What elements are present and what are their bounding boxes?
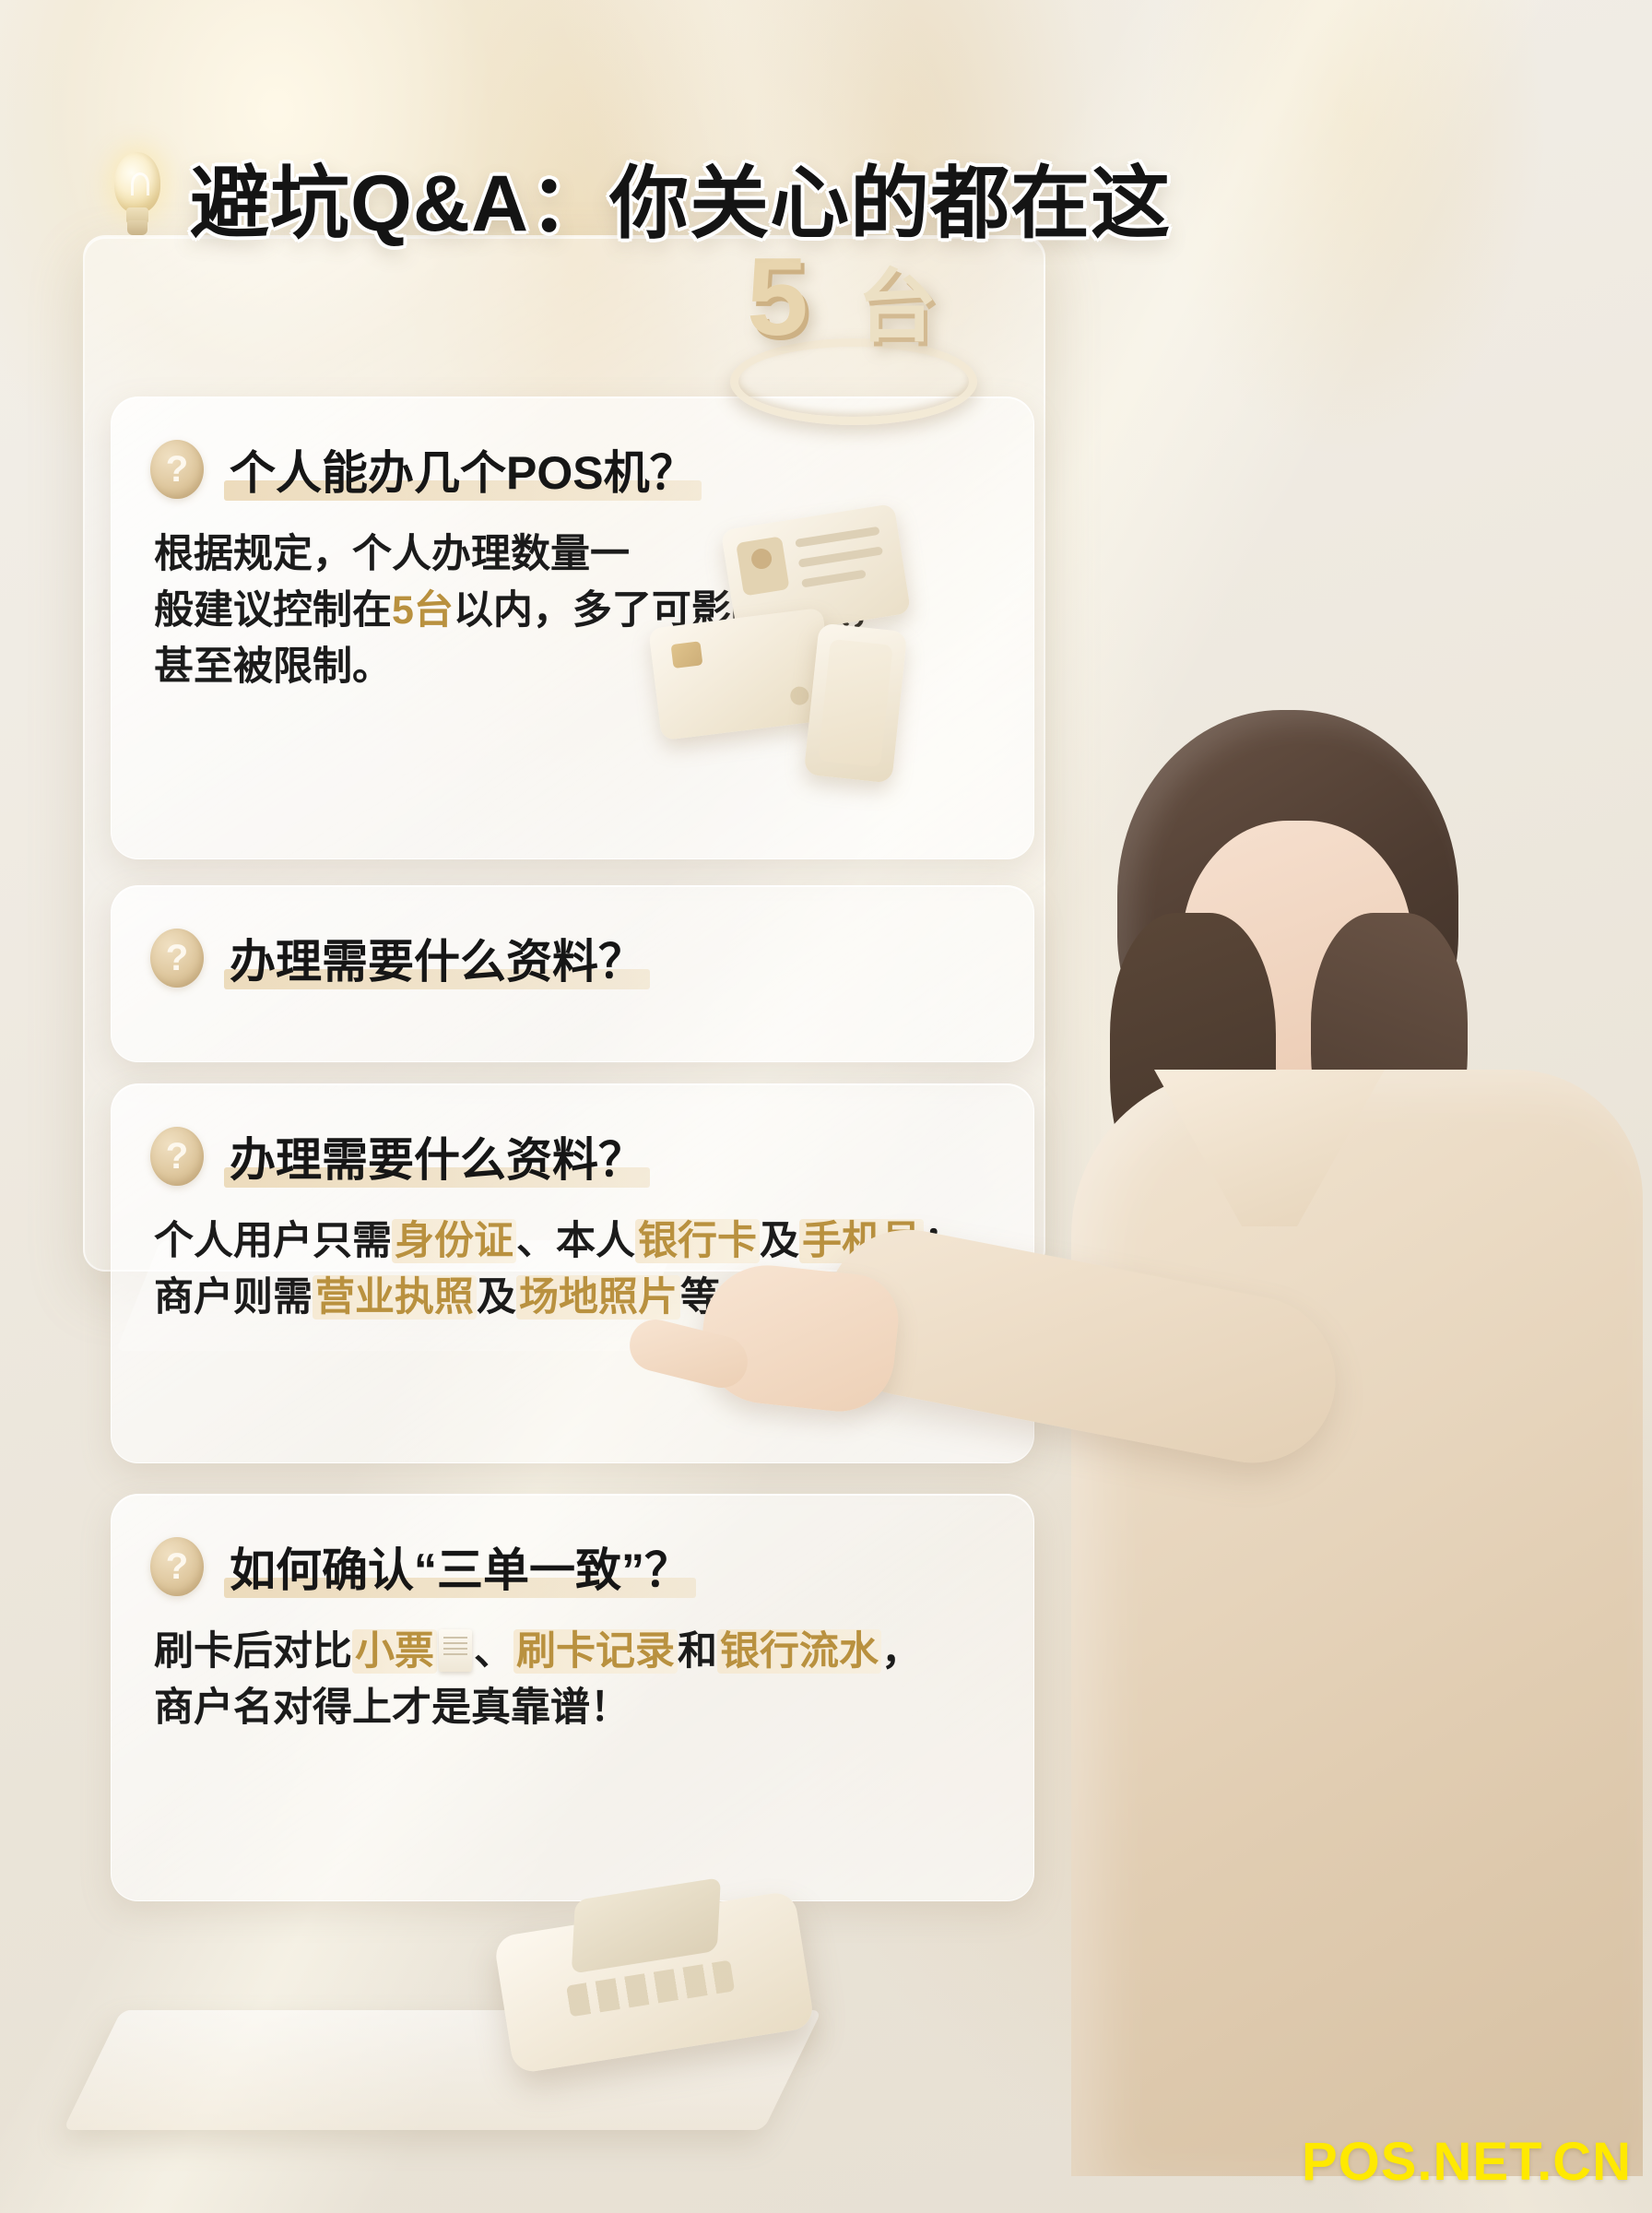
question-badge-label: ? <box>166 1138 188 1175</box>
answer-line-1a: 根据规定，个人办理数量一 <box>154 532 630 576</box>
character-body <box>1071 1070 1643 2176</box>
faq-question-1: 个人能办几个POS机？ <box>222 434 703 504</box>
faq-question-row-4: ? 如何确认“三单一致”？ <box>150 1532 698 1602</box>
answer-line-1c: 甚至被限制。 <box>154 645 392 689</box>
question-badge-label: ? <box>166 940 188 976</box>
receipt-icon <box>439 1629 472 1672</box>
answer-line-3a: 个人用户只需身份证、本人银行卡及手机号； <box>154 1219 963 1263</box>
question-badge-label: ? <box>166 1548 188 1585</box>
faq-question-4: 如何确认“三单一致”？ <box>222 1532 698 1602</box>
faq-question-row-1: ? 个人能办几个POS机？ <box>150 434 703 504</box>
five-units-3d-prop: 5 台 <box>719 242 996 417</box>
faq-question-row-2: ? 办理需要什么资料？ <box>150 923 652 993</box>
page-title: 避坑Q&A：你关心的都在这 <box>190 138 1171 254</box>
faq-answer-4: 刷卡后对比小票、刷卡记录和银行流水， 商户名对得上才是真靠谱！ <box>154 1624 1002 1736</box>
question-mark-icon: ? <box>150 440 204 499</box>
question-mark-icon: ? <box>150 929 204 988</box>
question-mark-icon: ? <box>150 1127 204 1186</box>
character-illustration <box>878 682 1652 2213</box>
answer-line-4a: 刷卡后对比小票、刷卡记录和银行流水， <box>154 1629 921 1674</box>
bank-card-icon <box>648 608 835 740</box>
faq-question-2: 办理需要什么资料？ <box>222 923 652 993</box>
faq-question-3: 办理需要什么资料？ <box>222 1121 652 1191</box>
lightbulb-icon <box>109 152 166 241</box>
unit-word: 台 <box>857 267 937 347</box>
faq-question-row-3: ? 办理需要什么资料？ <box>150 1121 652 1191</box>
question-mark-icon: ? <box>150 1537 204 1596</box>
question-badge-label: ? <box>166 451 188 488</box>
watermark: POS.NET.CN <box>1302 2131 1632 2193</box>
page-title-row: 避坑Q&A：你关心的都在这 <box>109 138 1171 254</box>
answer-line-4b: 商户名对得上才是真靠谱！ <box>154 1686 630 1730</box>
five-number: 5 <box>747 242 808 352</box>
